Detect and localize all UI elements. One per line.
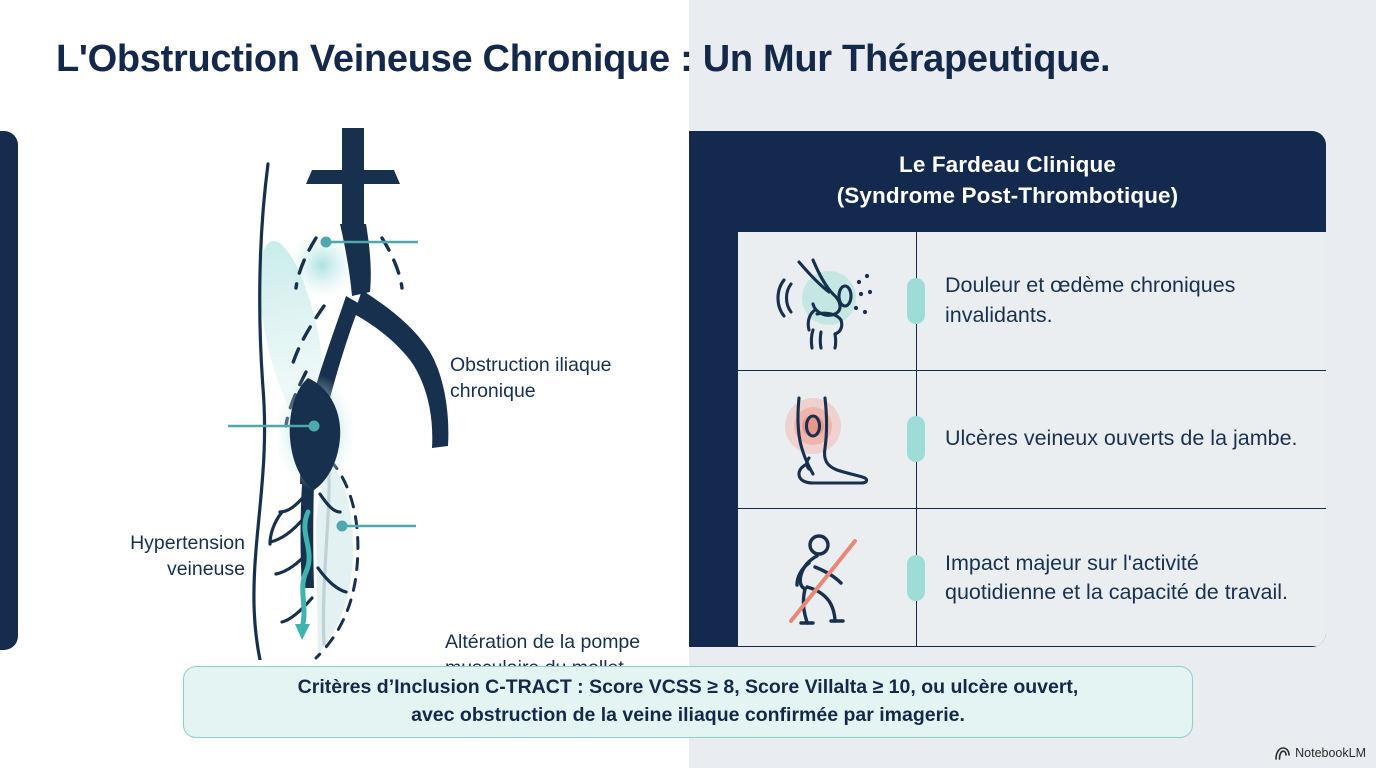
row-accent-pill — [907, 278, 925, 324]
row-label: Ulcères veineux ouverts de la jambe. — [945, 424, 1298, 454]
card-header-subtitle: (Syndrome Post-Thrombotique) — [709, 180, 1306, 211]
row-icon-cell — [738, 509, 917, 647]
banner-line-2: avec obstruction de la veine iliaque con… — [411, 704, 965, 726]
left-accent-bar — [0, 131, 18, 650]
walking-person-restricted-icon — [773, 529, 881, 627]
watermark-text: NotebookLM — [1295, 746, 1366, 760]
venous-anatomy-illustration: Obstruction iliaque chronique Hypertensi… — [30, 120, 690, 660]
row-icon-cell — [738, 232, 917, 370]
table-row: Ulcères veineux ouverts de la jambe. — [738, 371, 1326, 510]
row-text-cell: Douleur et œdème chroniques invalidants. — [917, 232, 1326, 370]
reflux-arrowhead — [295, 624, 310, 640]
knee-joint-pain-icon — [773, 252, 881, 350]
banner-text: Critères d’Inclusion C-TRACT : Score VCS… — [280, 674, 1097, 729]
row-label: Impact majeur sur l'activité quotidienne… — [945, 549, 1306, 608]
card-header: Le Fardeau Clinique (Syndrome Post-Throm… — [689, 131, 1326, 225]
row-icon-cell — [738, 371, 917, 509]
clinical-burden-card: Le Fardeau Clinique (Syndrome Post-Throm… — [689, 131, 1326, 647]
page-title: L'Obstruction Veineuse Chronique : Un Mu… — [56, 38, 1346, 82]
table-row: Impact majeur sur l'activité quotidienne… — [738, 509, 1326, 647]
label-iliac-obstruction: Obstruction iliaque chronique — [450, 353, 700, 404]
pain-dots — [854, 274, 872, 314]
row-text-cell: Ulcères veineux ouverts de la jambe. — [917, 371, 1326, 509]
clinical-burden-table: Douleur et œdème chroniques invalidants. — [737, 231, 1326, 647]
banner-line-1: Critères d’Inclusion C-TRACT : Score VCS… — [298, 676, 1079, 698]
row-label: Douleur et œdème chroniques invalidants. — [945, 271, 1306, 330]
notebooklm-watermark: NotebookLM — [1275, 746, 1366, 760]
leg-ulcer-icon — [773, 390, 881, 488]
notebooklm-logo-icon — [1275, 747, 1290, 760]
row-text-cell: Impact majeur sur l'activité quotidienne… — [917, 509, 1326, 647]
row-accent-pill — [907, 555, 925, 601]
label-venous-hypertension: Hypertension veineuse — [50, 531, 245, 582]
inclusion-criteria-banner: Critères d’Inclusion C-TRACT : Score VCS… — [183, 666, 1193, 738]
row-accent-pill — [907, 416, 925, 462]
card-header-title: Le Fardeau Clinique — [709, 149, 1306, 180]
table-row: Douleur et œdème chroniques invalidants. — [738, 232, 1326, 371]
